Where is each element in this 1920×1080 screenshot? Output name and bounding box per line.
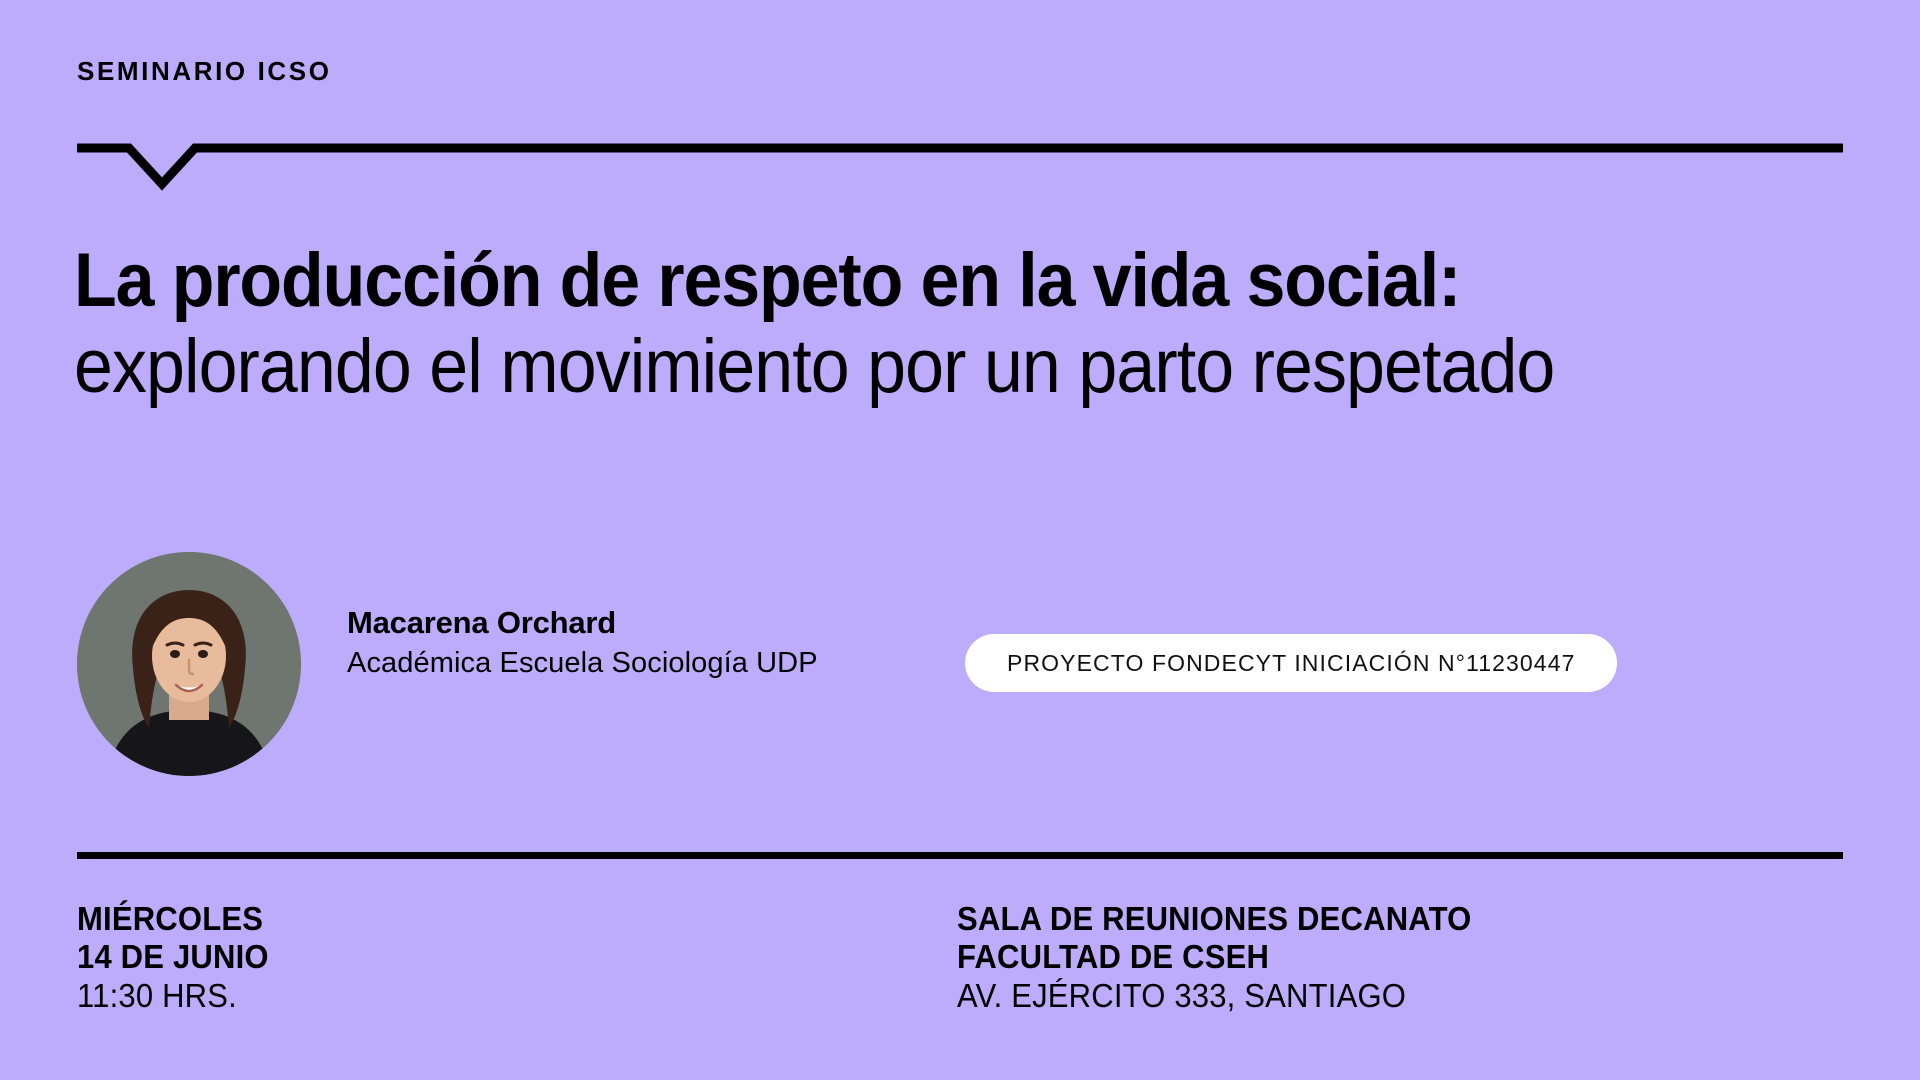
event-date: 14 DE JUNIO (77, 938, 269, 976)
title-line-secondary: explorando el movimiento por un parto re… (74, 330, 1721, 404)
speaker-name: Macarena Orchard (347, 604, 818, 643)
project-badge-label: PROYECTO FONDECYT INICIACIÓN N°11230447 (1007, 650, 1575, 677)
venue-faculty: FACULTAD DE CSEH (957, 938, 1471, 976)
seminar-poster: SEMINARIO ICSO La producción de respeto … (0, 0, 1920, 1080)
event-day: MIÉRCOLES (77, 900, 269, 938)
title-line-primary: La producción de respeto en la vida soci… (74, 244, 1721, 318)
speaker-details: Macarena Orchard Académica Escuela Socio… (347, 604, 818, 683)
venue-address: AV. EJÉRCITO 333, SANTIAGO (957, 977, 1471, 1015)
notched-divider-shape (77, 140, 1843, 196)
avatar-portrait-icon (77, 552, 301, 776)
footer: MIÉRCOLES 14 DE JUNIO 11:30 HRS. SALA DE… (77, 900, 1843, 1040)
notched-divider (77, 140, 1843, 196)
footer-divider (77, 852, 1843, 859)
venue-room: SALA DE REUNIONES DECANATO (957, 900, 1471, 938)
project-badge: PROYECTO FONDECYT INICIACIÓN N°11230447 (965, 634, 1617, 692)
event-time: 11:30 HRS. (77, 977, 269, 1015)
page-title: La producción de respeto en la vida soci… (74, 244, 1864, 405)
footer-when: MIÉRCOLES 14 DE JUNIO 11:30 HRS. (77, 900, 281, 1015)
speaker-avatar (77, 552, 301, 776)
footer-where: SALA DE REUNIONES DECANATO FACULTAD DE C… (957, 900, 1504, 1015)
speaker-role: Académica Escuela Sociología UDP (347, 643, 818, 684)
page-kicker: SEMINARIO ICSO (77, 58, 332, 84)
